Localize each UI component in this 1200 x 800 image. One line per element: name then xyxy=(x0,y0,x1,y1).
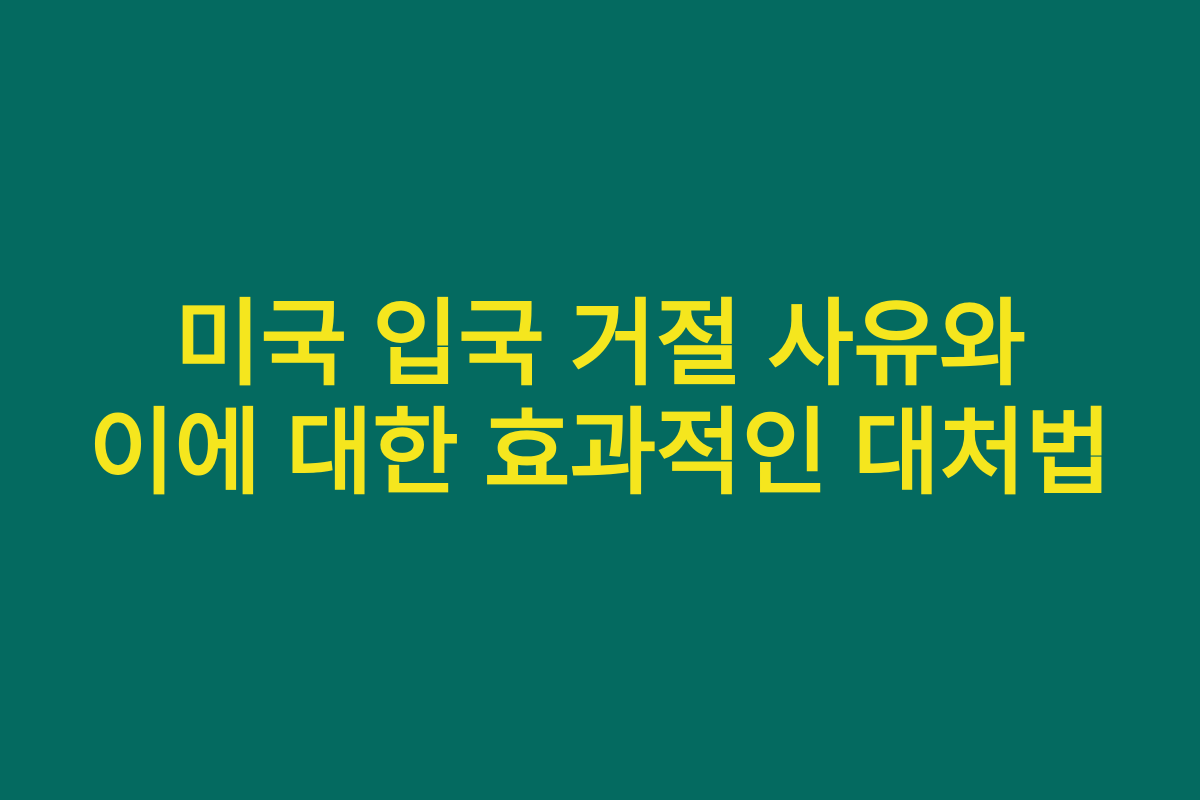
title-card: 미국 입국 거절 사유와 이에 대한 효과적인 대처법 xyxy=(0,0,1200,800)
headline-block: 미국 입국 거절 사유와 이에 대한 효과적인 대처법 xyxy=(89,289,1112,507)
headline-line-1: 미국 입국 거절 사유와 xyxy=(89,289,1112,398)
headline-line-2: 이에 대한 효과적인 대처법 xyxy=(89,398,1112,507)
